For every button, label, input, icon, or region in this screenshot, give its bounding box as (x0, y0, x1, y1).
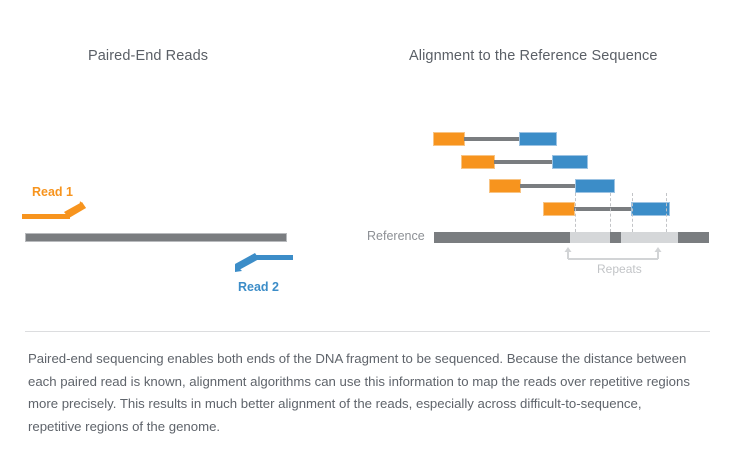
read-2-label: Read 2 (238, 280, 279, 294)
reference-segment-light (570, 232, 610, 243)
read-pair-row (461, 155, 588, 169)
guide-line (666, 193, 667, 232)
read-pair-connector (520, 184, 576, 188)
guide-line (610, 193, 611, 232)
paired-end-reads-title: Paired-End Reads (88, 48, 208, 64)
read-2-block (575, 179, 615, 193)
read-1-label: Read 1 (32, 185, 73, 199)
caption-text: Paired-end sequencing enables both ends … (28, 348, 692, 438)
dna-fragment-bar (25, 233, 287, 242)
guide-line (575, 193, 576, 232)
reference-segment-dark (434, 232, 570, 243)
read-pair-row (543, 202, 670, 216)
read-1-block (461, 155, 495, 169)
diagram-canvas: Paired-End Reads Alignment to the Refere… (0, 0, 736, 475)
guide-line (632, 193, 633, 232)
read-pair-row (433, 132, 557, 146)
reference-sequence-bar (434, 232, 709, 243)
reference-segment-dark (678, 232, 709, 243)
read-1-forward-arrow-icon (20, 200, 92, 222)
read-pair-row (489, 179, 615, 193)
read-2-block (519, 132, 557, 146)
read-1-block (489, 179, 521, 193)
read-pair-connector (494, 160, 553, 164)
read-1-block (433, 132, 465, 146)
reference-segment-dark (610, 232, 621, 243)
reference-label: Reference (367, 229, 425, 243)
read-pair-connector (464, 137, 520, 141)
reference-segment-light (621, 232, 678, 243)
read-pair-connector (574, 207, 632, 211)
alignment-reference-title: Alignment to the Reference Sequence (409, 48, 658, 64)
repeats-label: Repeats (597, 262, 642, 276)
section-divider (25, 331, 710, 332)
read-2-reverse-arrow-icon (233, 252, 295, 274)
read-1-block (543, 202, 575, 216)
read-2-block (631, 202, 670, 216)
repeats-bracket-icon (563, 246, 663, 262)
read-2-block (552, 155, 588, 169)
